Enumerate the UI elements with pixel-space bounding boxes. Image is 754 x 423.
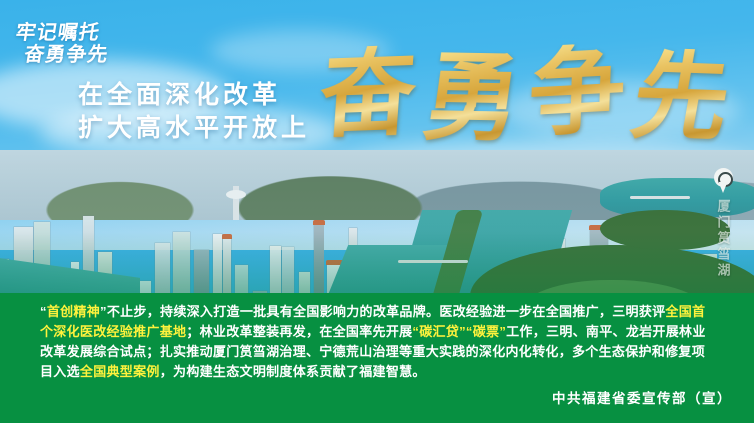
- body-text-highlight: “碳汇贷”“碳票”: [412, 324, 506, 339]
- publisher-signature: 中共福建省委宣传部（宣）: [552, 387, 732, 407]
- body-text-run: “: [40, 304, 47, 319]
- body-text-run: ，为构建生态文明制度体系贡献了福建智慧。: [160, 364, 426, 379]
- body-text-highlight: 首创精神: [47, 304, 100, 319]
- body-text-run: ；林业改革整装再发，在全国率先开展: [186, 324, 412, 339]
- body-text-run: ”不止步，持续深入打造一批具有全国影响力的改革品牌。医改经验进一步在全国推广，三…: [100, 304, 665, 319]
- body-text-highlight: 全国典型案例: [80, 364, 160, 379]
- headline: 在全面深化改革 扩大高水平开放上: [78, 79, 310, 146]
- calligraphy-char: 奋: [316, 44, 419, 143]
- calligraphy-title: 奋勇争先: [320, 36, 730, 151]
- calligraphy-char: 勇: [417, 49, 526, 147]
- body-paragraph: “首创精神”不止步，持续深入打造一批具有全国影响力的改革品牌。医改经验进一步在全…: [40, 302, 712, 383]
- location-pin-icon: [714, 168, 733, 193]
- location-label: 厦门筼筜湖: [714, 199, 733, 279]
- poster-root: 牢记嘱托 奋勇争先 在全面深化改革 扩大高水平开放上 奋勇争先 厦门筼筜湖 “首…: [0, 0, 754, 423]
- calligraphy-char: 先: [625, 47, 737, 146]
- logo-line-2: 奋勇争先: [22, 44, 110, 66]
- headline-line-2: 扩大高水平开放上: [78, 112, 310, 145]
- calligraphy-char: 争: [528, 41, 628, 142]
- logo-line-1: 牢记嘱托: [14, 22, 114, 44]
- location-marker: 厦门筼筜湖: [706, 168, 740, 279]
- headline-line-1: 在全面深化改革: [78, 79, 310, 112]
- campaign-logo: 牢记嘱托 奋勇争先: [10, 22, 113, 67]
